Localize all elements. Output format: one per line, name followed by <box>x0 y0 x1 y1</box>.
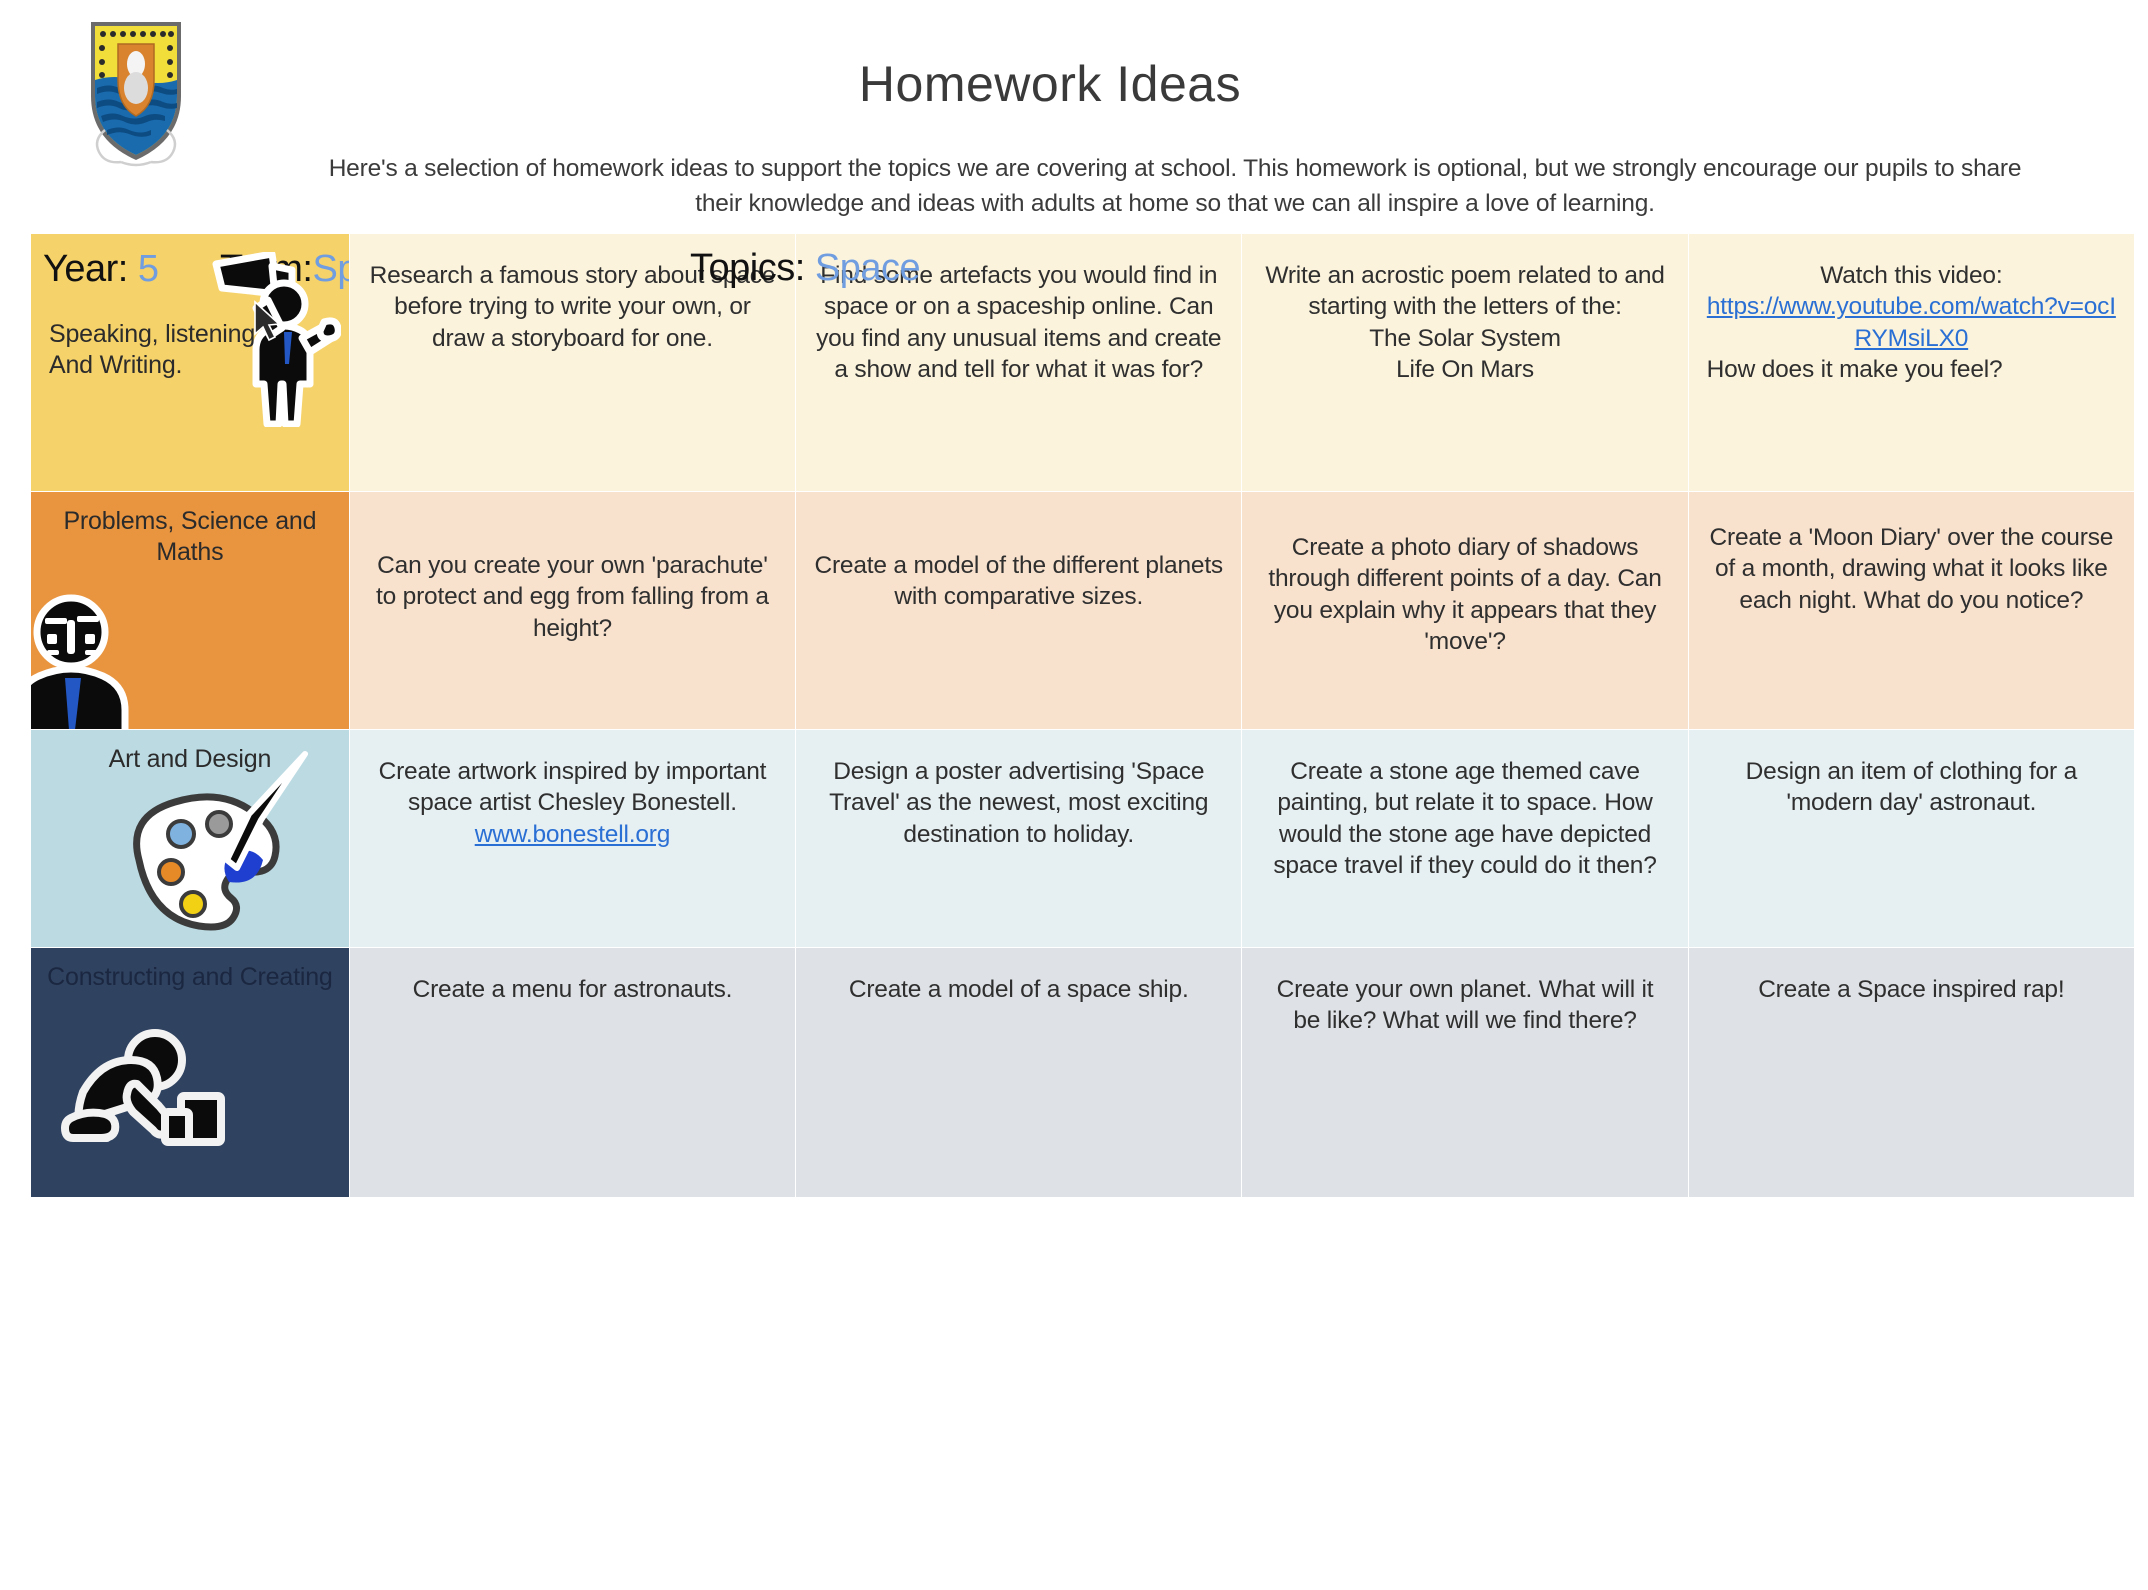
table-cell: Create a stone age themed cave painting,… <box>1242 730 1688 948</box>
cell-text: Create a stone age themed cave painting,… <box>1242 730 1687 895</box>
row-label-speaking-listening-writing: Year: 5 Term:Spring Speaking, listening … <box>31 234 350 492</box>
cell-text: Create a Space inspired rap! <box>1689 948 2134 1019</box>
table-cell: Create a model of a space ship. <box>796 948 1242 1198</box>
row-label-text: Constructing and Creating <box>31 948 349 993</box>
paint-palette-and-brush-icon <box>109 748 314 938</box>
row-label-text: Speaking, listening And Writing. <box>31 291 349 382</box>
table-cell: Create a photo diary of shadows through … <box>1242 492 1688 730</box>
table-cell: Design an item of clothing for a 'modern… <box>1688 730 2134 948</box>
how-does-it-feel-label: How does it make you feel? <box>1707 354 2116 385</box>
youtube-video-link[interactable]: https://www.youtube.com/watch?v=ocIRYMsi… <box>1707 293 2116 351</box>
table-cell: Create a menu for astronauts. <box>349 948 795 1198</box>
topics-line: Topics: Space <box>690 247 920 290</box>
cell-text: Write an acrostic poem related to and st… <box>1242 234 1687 399</box>
mouse-pointer-icon <box>253 300 289 348</box>
person-building-with-blocks-icon <box>59 1026 249 1166</box>
topics-label: Topics: <box>690 247 805 289</box>
cell-text: Design an item of clothing for a 'modern… <box>1689 730 2134 833</box>
cell-text: Design a poster advertising 'Space Trave… <box>796 730 1241 864</box>
table-cell: Create a 'Moon Diary' over the course of… <box>1688 492 2134 730</box>
cell-text: Create a model of the different planets … <box>796 492 1241 627</box>
table-cell: Watch this video: https://www.youtube.co… <box>1688 234 2134 492</box>
table-cell: Write an acrostic poem related to and st… <box>1242 234 1688 492</box>
cell-text: Create a 'Moon Diary' over the course of… <box>1689 492 2134 630</box>
cell-text-video: Watch this video: https://www.youtube.co… <box>1689 234 2134 399</box>
homework-grid: Year: 5 Term:Spring Speaking, listening … <box>30 233 2135 1198</box>
topics-value: Space <box>815 247 920 289</box>
year-value: 5 <box>138 248 159 290</box>
row-label-art-and-design: Art and Design <box>31 730 350 948</box>
page-header: Homework Ideas Here's a selection of hom… <box>0 0 2148 232</box>
row-label-constructing-and-creating: Constructing and Creating <box>31 948 350 1198</box>
table-row: Problems, Science and Maths <box>31 492 2135 730</box>
person-with-glasses-icon <box>31 590 170 730</box>
table-row: Year: 5 Term:Spring Speaking, listening … <box>31 234 2135 492</box>
watch-video-label: Watch this video: <box>1707 260 2116 291</box>
term-label: Term: <box>220 248 313 290</box>
page-title: Homework Ideas <box>300 55 1800 113</box>
row-label-text: Problems, Science and Maths <box>31 492 349 569</box>
meta-line: Year: 5 Term:Spring <box>31 234 349 291</box>
table-row: Constructing and Creating Create a menu … <box>31 948 2135 1198</box>
table-row: Art and Design Create artwork inspired b… <box>31 730 2135 948</box>
table-cell: Create artwork inspired by important spa… <box>349 730 795 948</box>
bonestell-website-link[interactable]: www.bonestell.org <box>475 821 670 848</box>
cell-text: Create a photo diary of shadows through … <box>1242 492 1687 671</box>
table-cell: Create a Space inspired rap! <box>1688 948 2134 1198</box>
cell-text: Create your own planet. What will it be … <box>1242 948 1687 1051</box>
cell-text: Create a model of a space ship. <box>796 948 1241 1019</box>
year-label: Year: <box>43 248 128 290</box>
table-cell: Can you create your own 'parachute' to p… <box>349 492 795 730</box>
table-cell: Create a model of the different planets … <box>796 492 1242 730</box>
cell-text: Can you create your own 'parachute' to p… <box>350 492 795 658</box>
cell-text: Create a menu for astronauts. <box>350 948 795 1019</box>
table-cell: Design a poster advertising 'Space Trave… <box>796 730 1242 948</box>
cell-text-artist: Create artwork inspired by important spa… <box>350 730 795 864</box>
table-cell: Create your own planet. What will it be … <box>1242 948 1688 1198</box>
row-label-text: Art and Design <box>31 730 349 775</box>
row-label-problems-science-maths: Problems, Science and Maths <box>31 492 350 730</box>
term-value: Spring <box>312 248 349 290</box>
artist-text: Create artwork inspired by important spa… <box>379 758 767 816</box>
school-crest-icon <box>83 18 189 168</box>
intro-paragraph: Here's a selection of homework ideas to … <box>305 152 2045 222</box>
